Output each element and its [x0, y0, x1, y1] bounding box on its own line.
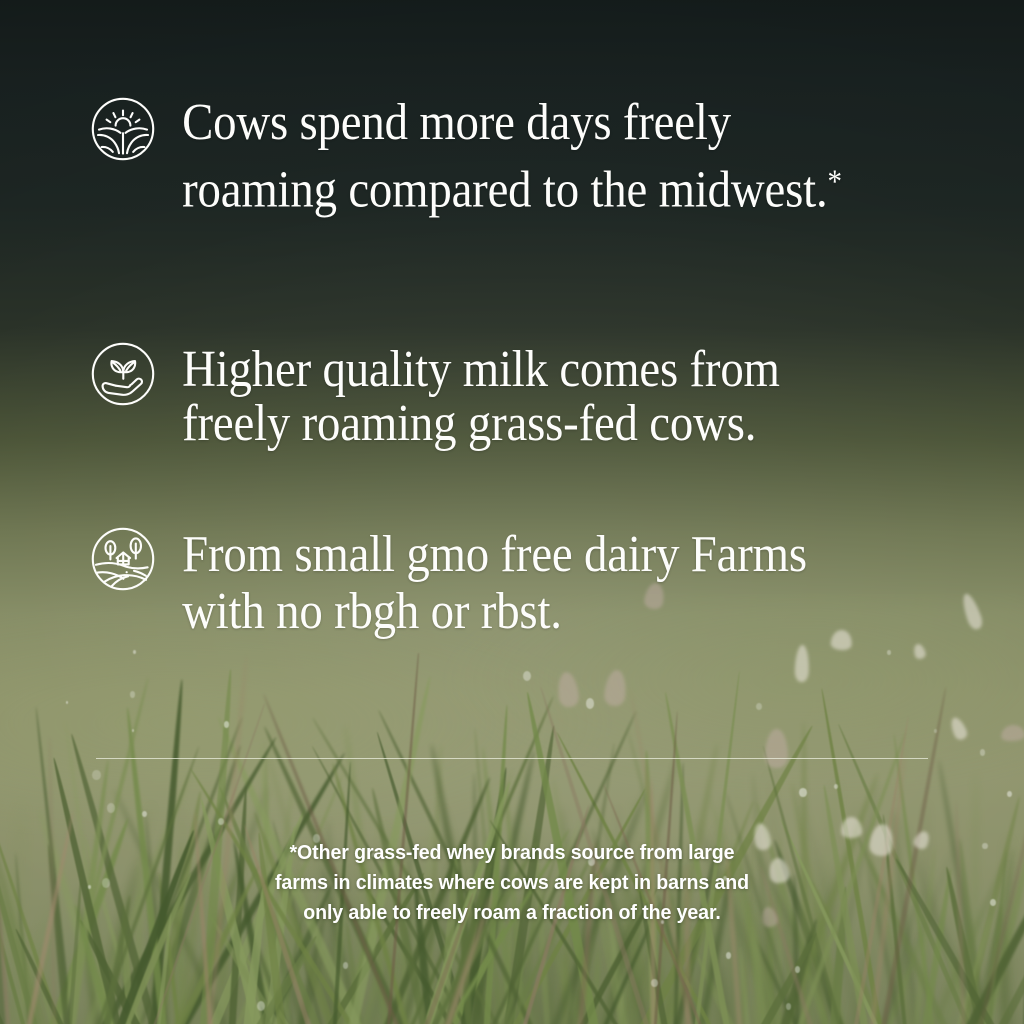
- footnote-disclaimer: *Other grass-fed whey brands source from…: [0, 838, 1024, 928]
- hand-holding-sprout-icon: [90, 341, 156, 407]
- benefit-item-milk-quality: Higher quality milk comes from freely ro…: [90, 341, 968, 451]
- benefits-poster: Cows spend more days freely roaming comp…: [0, 0, 1024, 1024]
- benefit-text-2: Higher quality milk comes from freely ro…: [182, 341, 780, 452]
- benefit-label: Higher quality milk comes from freely ro…: [156, 343, 887, 451]
- benefit-label: Cows spend more days freely roaming comp…: [156, 94, 887, 220]
- footnote-line-2: farms in climates where cows are kept in…: [23, 868, 1001, 898]
- benefit-item-roaming-days: Cows spend more days freely roaming comp…: [90, 96, 968, 220]
- divider: [96, 758, 928, 759]
- poster-content: Cows spend more days freely roaming comp…: [0, 0, 1024, 1024]
- sun-over-fields-icon: [90, 96, 156, 162]
- footnote-line-3: only able to freely roam a fraction of t…: [23, 898, 1001, 928]
- benefit-item-small-farms: From small gmo free dairy Farms with no …: [90, 526, 968, 640]
- footnote-marker-1: *: [827, 163, 842, 199]
- benefit-label: From small gmo free dairy Farms with no …: [156, 526, 887, 640]
- benefit-text-3: From small gmo free dairy Farms with no …: [182, 526, 807, 640]
- footnote-line-1: *Other grass-fed whey brands source from…: [23, 838, 1001, 868]
- farm-barn-trees-icon: [90, 526, 156, 592]
- benefit-text-1: Cows spend more days freely roaming comp…: [182, 94, 827, 219]
